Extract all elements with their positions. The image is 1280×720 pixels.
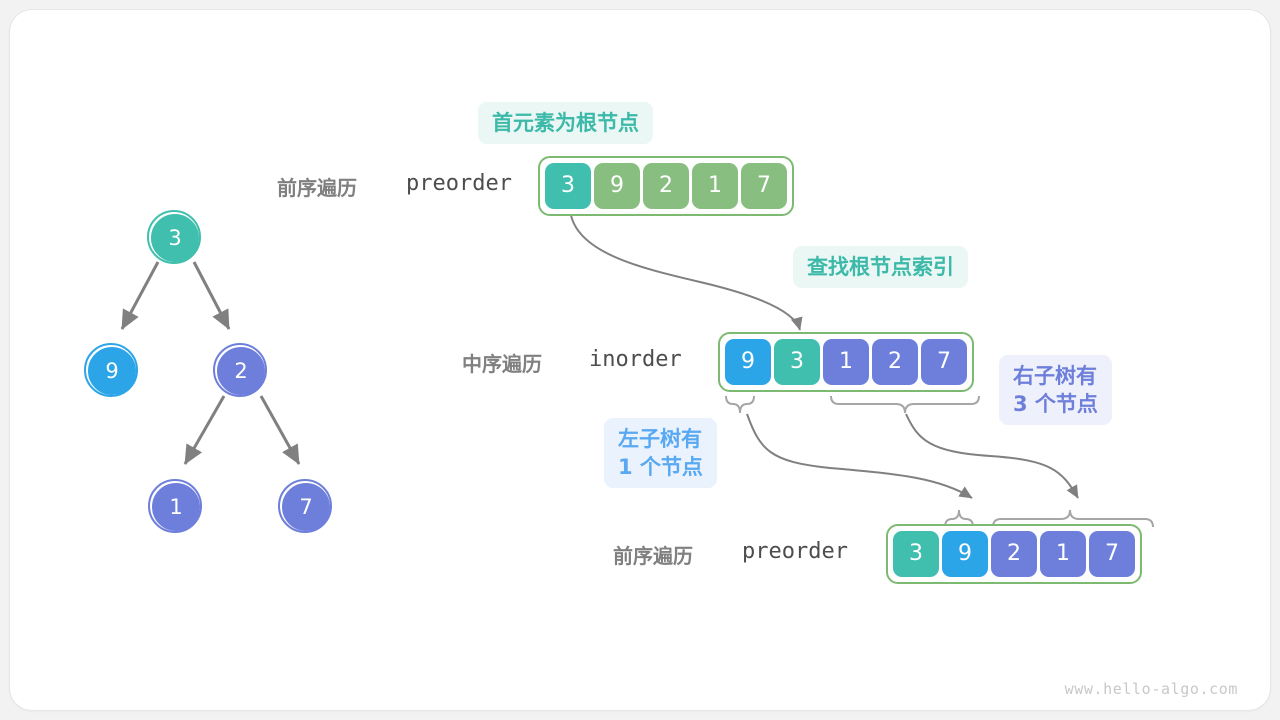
inorder-label-cn: 中序遍历 [462,348,542,377]
tree-node-7[interactable]: 7 [279,480,333,534]
tree-node-value: 7 [299,497,312,518]
array-cell[interactable]: 2 [991,531,1037,577]
tree-node-value: 1 [169,497,182,518]
array-cell[interactable]: 2 [872,339,918,385]
preorder-bottom-label-cn: 前序遍历 [613,540,693,569]
array-cell[interactable]: 1 [1040,531,1086,577]
callout-right-subtree: 右子树有 3 个节点 [999,355,1112,425]
tree-node-root[interactable]: 3 [148,211,202,265]
array-cell[interactable]: 9 [594,163,640,209]
array-cell[interactable]: 9 [725,339,771,385]
preorder-top-label-en: preorder [406,171,512,196]
array-cell[interactable]: 1 [823,339,869,385]
tree-node-value: 2 [234,361,247,382]
callout-root-is-first: 首元素为根节点 [478,102,653,144]
array-cell[interactable]: 3 [893,531,939,577]
inorder-array: 9 3 1 2 7 [718,332,974,392]
preorder-top-array: 3 9 2 1 7 [538,156,794,216]
diagram-canvas: 3 9 2 1 7 前序遍历 preorder 3 9 2 1 7 首元素为根节… [0,0,1280,720]
tree-node-value: 9 [105,361,118,382]
array-cell[interactable]: 7 [1089,531,1135,577]
array-cell[interactable]: 7 [741,163,787,209]
watermark: www.hello-algo.com [1065,680,1238,698]
array-cell[interactable]: 3 [774,339,820,385]
callout-find-root-index: 查找根节点索引 [793,246,968,288]
array-cell[interactable]: 1 [692,163,738,209]
tree-node-9[interactable]: 9 [85,344,139,398]
array-cell[interactable]: 3 [545,163,591,209]
array-cell[interactable]: 2 [643,163,689,209]
array-cell[interactable]: 7 [921,339,967,385]
tree-node-1[interactable]: 1 [149,480,203,534]
callout-left-subtree: 左子树有 1 个节点 [604,418,717,488]
preorder-bottom-label-en: preorder [742,539,848,564]
inorder-label-en: inorder [589,347,682,372]
preorder-top-label-cn: 前序遍历 [277,172,357,201]
preorder-bottom-array: 3 9 2 1 7 [886,524,1142,584]
tree-node-2[interactable]: 2 [214,344,268,398]
tree-node-value: 3 [168,228,181,249]
array-cell[interactable]: 9 [942,531,988,577]
